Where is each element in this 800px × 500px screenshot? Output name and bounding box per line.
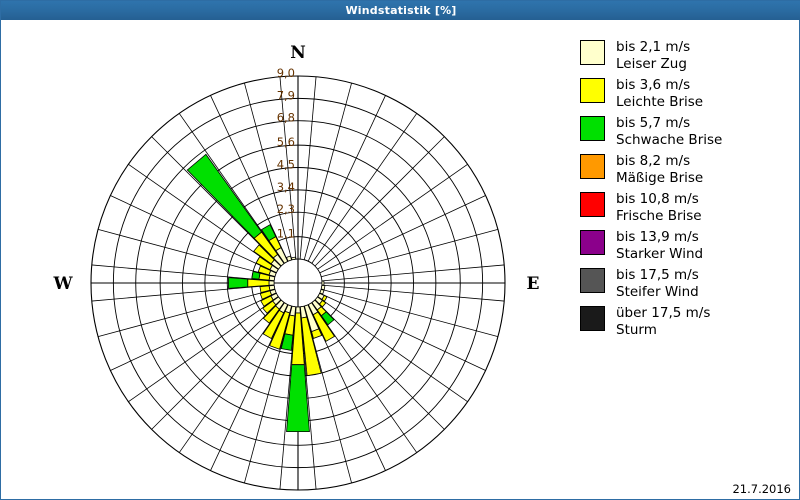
- rose-petal-segment: [252, 271, 260, 279]
- legend-speed: über 17,5 m/s: [616, 305, 710, 322]
- radial-tick-label: 4,5: [277, 158, 295, 172]
- legend-name: Sturm: [616, 322, 710, 339]
- window-title: Windstatistik [%]: [345, 4, 456, 17]
- rose-petal-segment: [248, 279, 269, 287]
- legend-speed: bis 2,1 m/s: [616, 39, 690, 56]
- legend-speed: bis 5,7 m/s: [616, 115, 722, 132]
- legend-swatch: [580, 78, 605, 103]
- legend-swatch: [580, 154, 605, 179]
- radial-tick-label: 7,9: [277, 88, 295, 102]
- legend-item: bis 8,2 m/s Mäßige Brise: [580, 153, 795, 186]
- legend-name: Leiser Zug: [616, 56, 690, 73]
- wind-rose-chart: 1,12,33,44,55,66,87,99,0NSWE: [2, 21, 562, 491]
- rose-petal-segment: [269, 281, 274, 285]
- legend-speed: bis 3,6 m/s: [616, 77, 703, 94]
- legend: bis 2,1 m/s Leiser Zug bis 3,6 m/s Leich…: [580, 39, 795, 343]
- legend-item: bis 5,7 m/s Schwache Brise: [580, 115, 795, 148]
- rose-petal-segment: [296, 307, 301, 313]
- legend-item: bis 2,1 m/s Leiser Zug: [580, 39, 795, 72]
- legend-name: Mäßige Brise: [616, 170, 703, 187]
- radial-tick-label: 6,8: [277, 111, 295, 125]
- windstatistik-window: Windstatistik [%] 1,12,33,44,55,66,87,99…: [0, 0, 800, 500]
- chart-date: 21.7.2016: [732, 482, 791, 496]
- legend-swatch: [580, 268, 605, 293]
- legend-speed: bis 13,9 m/s: [616, 229, 703, 246]
- legend-name: Frische Brise: [616, 208, 702, 225]
- radial-tick-label: 3,4: [277, 180, 295, 194]
- rose-petal-segment: [322, 281, 324, 285]
- legend-item: bis 10,8 m/s Frische Brise: [580, 191, 795, 224]
- legend-speed: bis 17,5 m/s: [616, 267, 699, 284]
- legend-swatch: [580, 192, 605, 217]
- radial-tick-label: 1,1: [277, 227, 295, 241]
- legend-item: bis 3,6 m/s Leichte Brise: [580, 77, 795, 110]
- legend-name: Starker Wind: [616, 246, 703, 263]
- rose-petal-segment: [228, 278, 247, 289]
- legend-speed: bis 10,8 m/s: [616, 191, 702, 208]
- legend-item: bis 13,9 m/s Starker Wind: [580, 229, 795, 262]
- compass-label-east: E: [527, 274, 540, 294]
- compass-label-north: N: [290, 43, 306, 63]
- legend-swatch: [580, 230, 605, 255]
- radial-tick-label: 5,6: [277, 135, 295, 149]
- rose-petal-segment: [321, 285, 325, 289]
- legend-item: über 17,5 m/s Sturm: [580, 305, 795, 338]
- window-content: 1,12,33,44,55,66,87,99,0NSWE bis 2,1 m/s…: [2, 21, 799, 499]
- radial-tick-label: 2,3: [277, 202, 295, 216]
- legend-speed: bis 8,2 m/s: [616, 153, 703, 170]
- legend-swatch: [580, 116, 605, 141]
- legend-item: bis 17,5 m/s Steifer Wind: [580, 267, 795, 300]
- wind-rose-svg: 1,12,33,44,55,66,87,99,0NSWE: [2, 21, 562, 491]
- compass-label-west: W: [52, 274, 73, 294]
- legend-name: Steifer Wind: [616, 284, 699, 301]
- legend-name: Leichte Brise: [616, 94, 703, 111]
- window-title-bar: Windstatistik [%]: [1, 1, 800, 20]
- rose-petal-segment: [292, 257, 296, 260]
- legend-swatch: [580, 40, 605, 65]
- radial-tick-label: 9,0: [277, 66, 295, 80]
- legend-name: Schwache Brise: [616, 132, 722, 149]
- legend-swatch: [580, 306, 605, 331]
